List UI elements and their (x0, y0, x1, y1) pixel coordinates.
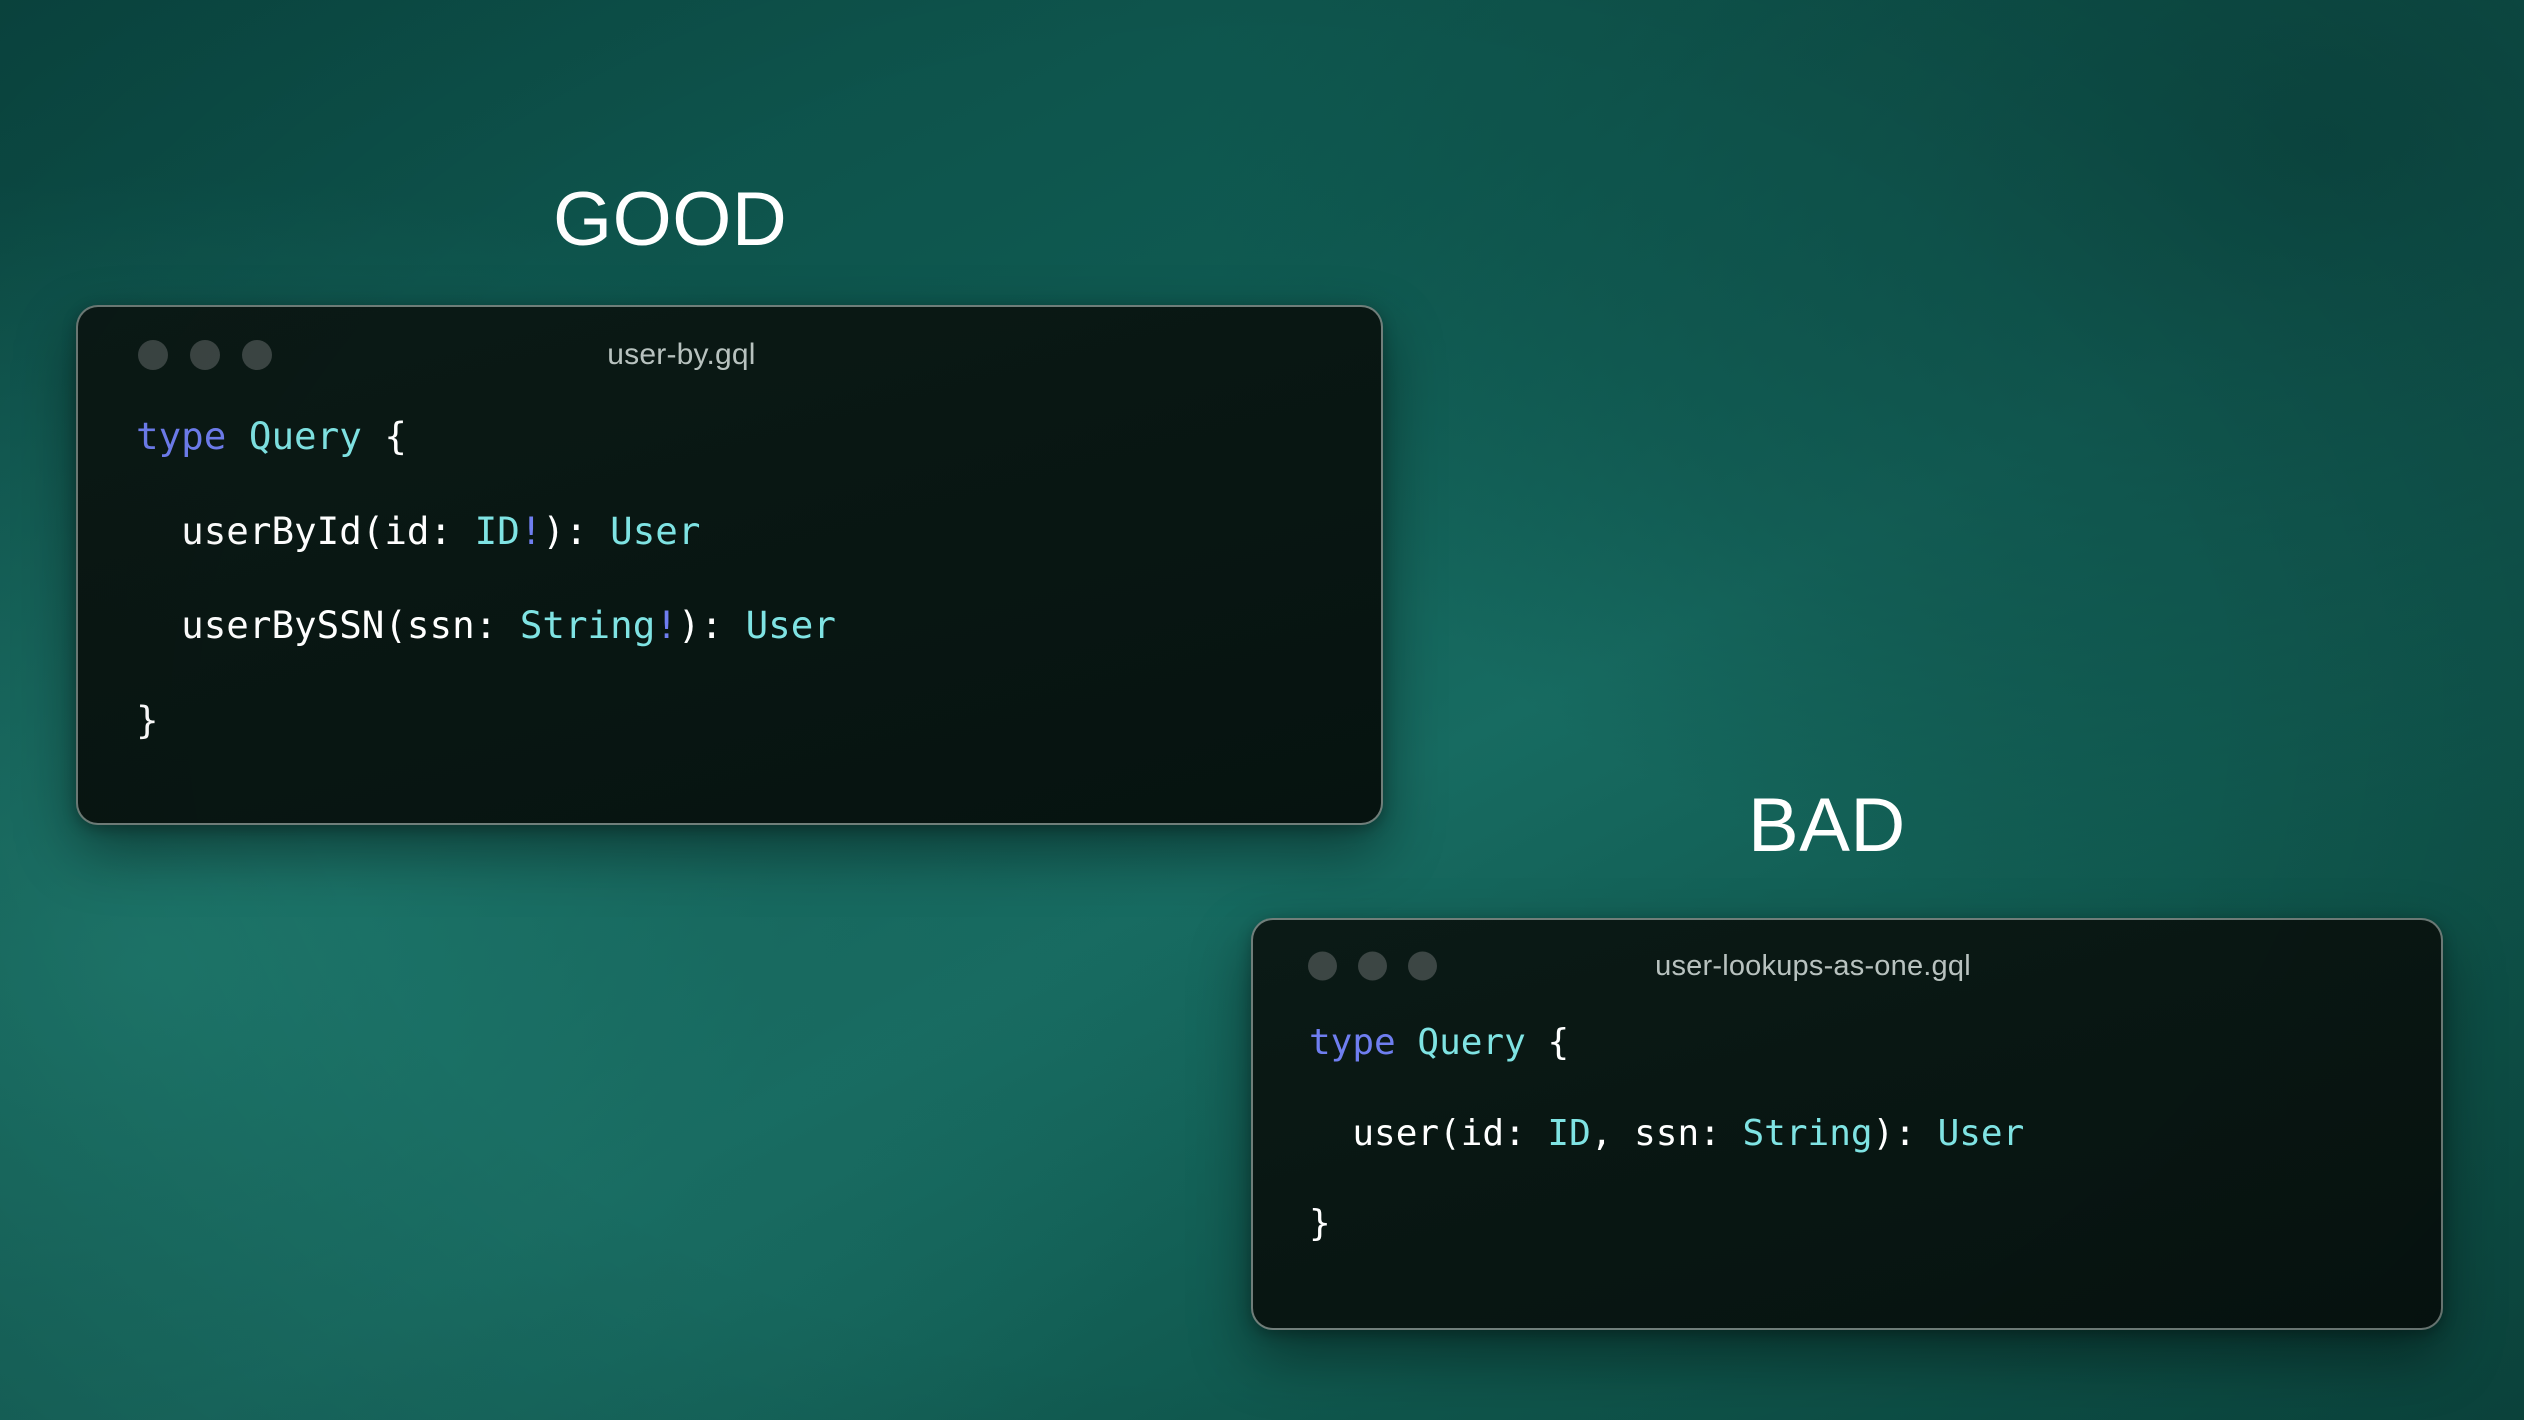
code-window-bad: user-lookups-as-one.gql type Query { use… (1251, 918, 2443, 1330)
code-block-bad: type Query { user(id: ID, ssn: String): … (1253, 1012, 2441, 1247)
code-token: { (1526, 1022, 1569, 1063)
traffic-light-dots (138, 340, 272, 370)
code-token: type (136, 414, 226, 458)
maximize-dot-icon[interactable] (1408, 952, 1437, 981)
close-dot-icon[interactable] (1308, 952, 1337, 981)
window-titlebar: user-by.gql (78, 307, 1381, 403)
minimize-dot-icon[interactable] (190, 340, 220, 370)
code-token: userById(id: (136, 509, 475, 553)
code-token: } (136, 698, 159, 742)
window-titlebar: user-lookups-as-one.gql (1253, 920, 2441, 1012)
code-token: User (1938, 1113, 2025, 1154)
code-token: { (362, 414, 407, 458)
close-dot-icon[interactable] (138, 340, 168, 370)
code-token: } (1309, 1203, 1331, 1244)
good-example-label: GOOD (553, 182, 787, 258)
code-token: ): (542, 509, 610, 553)
code-token (226, 414, 249, 458)
code-token: User (610, 509, 700, 553)
bad-example-label: BAD (1748, 788, 1906, 864)
code-line: userBySSN(ssn: String!): User (136, 602, 1381, 649)
code-token: ): (1873, 1113, 1938, 1154)
code-token: Query (249, 414, 362, 458)
traffic-light-dots (1308, 952, 1437, 981)
code-token: userBySSN(ssn: (136, 603, 520, 647)
minimize-dot-icon[interactable] (1358, 952, 1387, 981)
code-token: String (1743, 1113, 1873, 1154)
code-line: user(id: ID, ssn: String): User (1309, 1111, 2441, 1156)
code-token: User (746, 603, 836, 647)
slide-canvas: GOOD user-by.gql type Query { userById(i… (0, 0, 2524, 1420)
code-token: ): (678, 603, 746, 647)
code-token (1396, 1022, 1418, 1063)
code-token: ! (655, 603, 678, 647)
code-token: String (520, 603, 655, 647)
code-token: ID (1547, 1113, 1590, 1154)
code-line: } (1309, 1201, 2441, 1246)
maximize-dot-icon[interactable] (242, 340, 272, 370)
code-line: userById(id: ID!): User (136, 508, 1381, 555)
code-line: type Query { (1309, 1020, 2441, 1065)
code-token: type (1309, 1022, 1396, 1063)
code-token: , ssn: (1591, 1113, 1743, 1154)
code-token: ! (520, 509, 543, 553)
code-token: ID (475, 509, 520, 553)
code-line: } (136, 697, 1381, 744)
code-token: Query (1417, 1022, 1525, 1063)
code-token: user(id: (1309, 1113, 1547, 1154)
code-line: type Query { (136, 413, 1381, 460)
code-window-good: user-by.gql type Query { userById(id: ID… (76, 305, 1383, 825)
code-block-good: type Query { userById(id: ID!): User use… (78, 403, 1381, 744)
